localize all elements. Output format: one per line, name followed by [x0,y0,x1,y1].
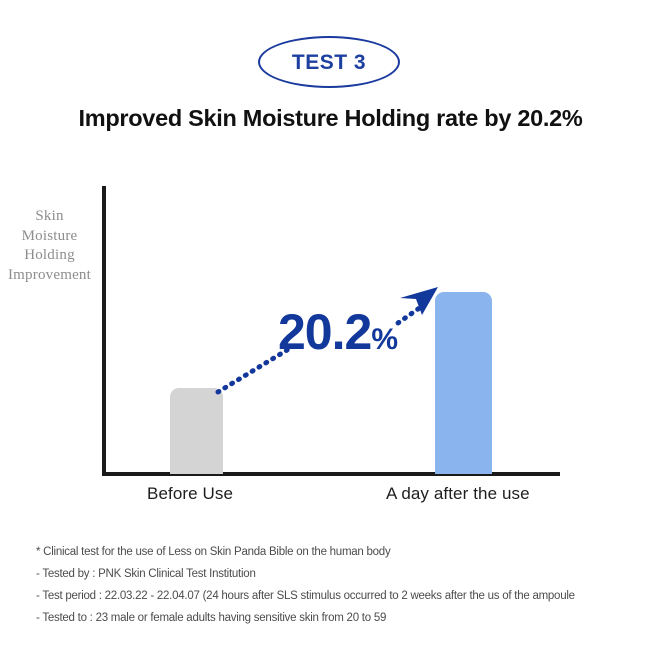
delta-value: 20.2 % [278,307,398,357]
footnote-line: - Tested to : 23 male or female adults h… [36,607,646,629]
footnotes: * Clinical test for the use of Less on S… [36,541,646,629]
x-axis-tick-label-a-day-after-the-use: A day after the use [386,484,530,504]
y-axis-label-line: Moisture [0,227,99,247]
footnote-line: * Clinical test for the use of Less on S… [36,541,646,563]
delta-number: 20.2 [278,307,371,357]
footnote-line: - Test period : 22.03.22 - 22.04.07 (24 … [36,585,646,607]
y-axis-label-line: Skin [0,207,99,227]
x-axis-tick-label-before-use: Before Use [147,484,233,504]
y-axis-label-line: Holding [0,246,99,266]
y-axis-line [102,186,106,476]
delta-unit: % [371,325,397,355]
footnote-line: - Tested by : PNK Skin Clinical Test Ins… [36,563,646,585]
y-axis-label: Skin Moisture Holding Improvement [0,207,99,285]
y-axis-label-line: Improvement [0,266,99,286]
